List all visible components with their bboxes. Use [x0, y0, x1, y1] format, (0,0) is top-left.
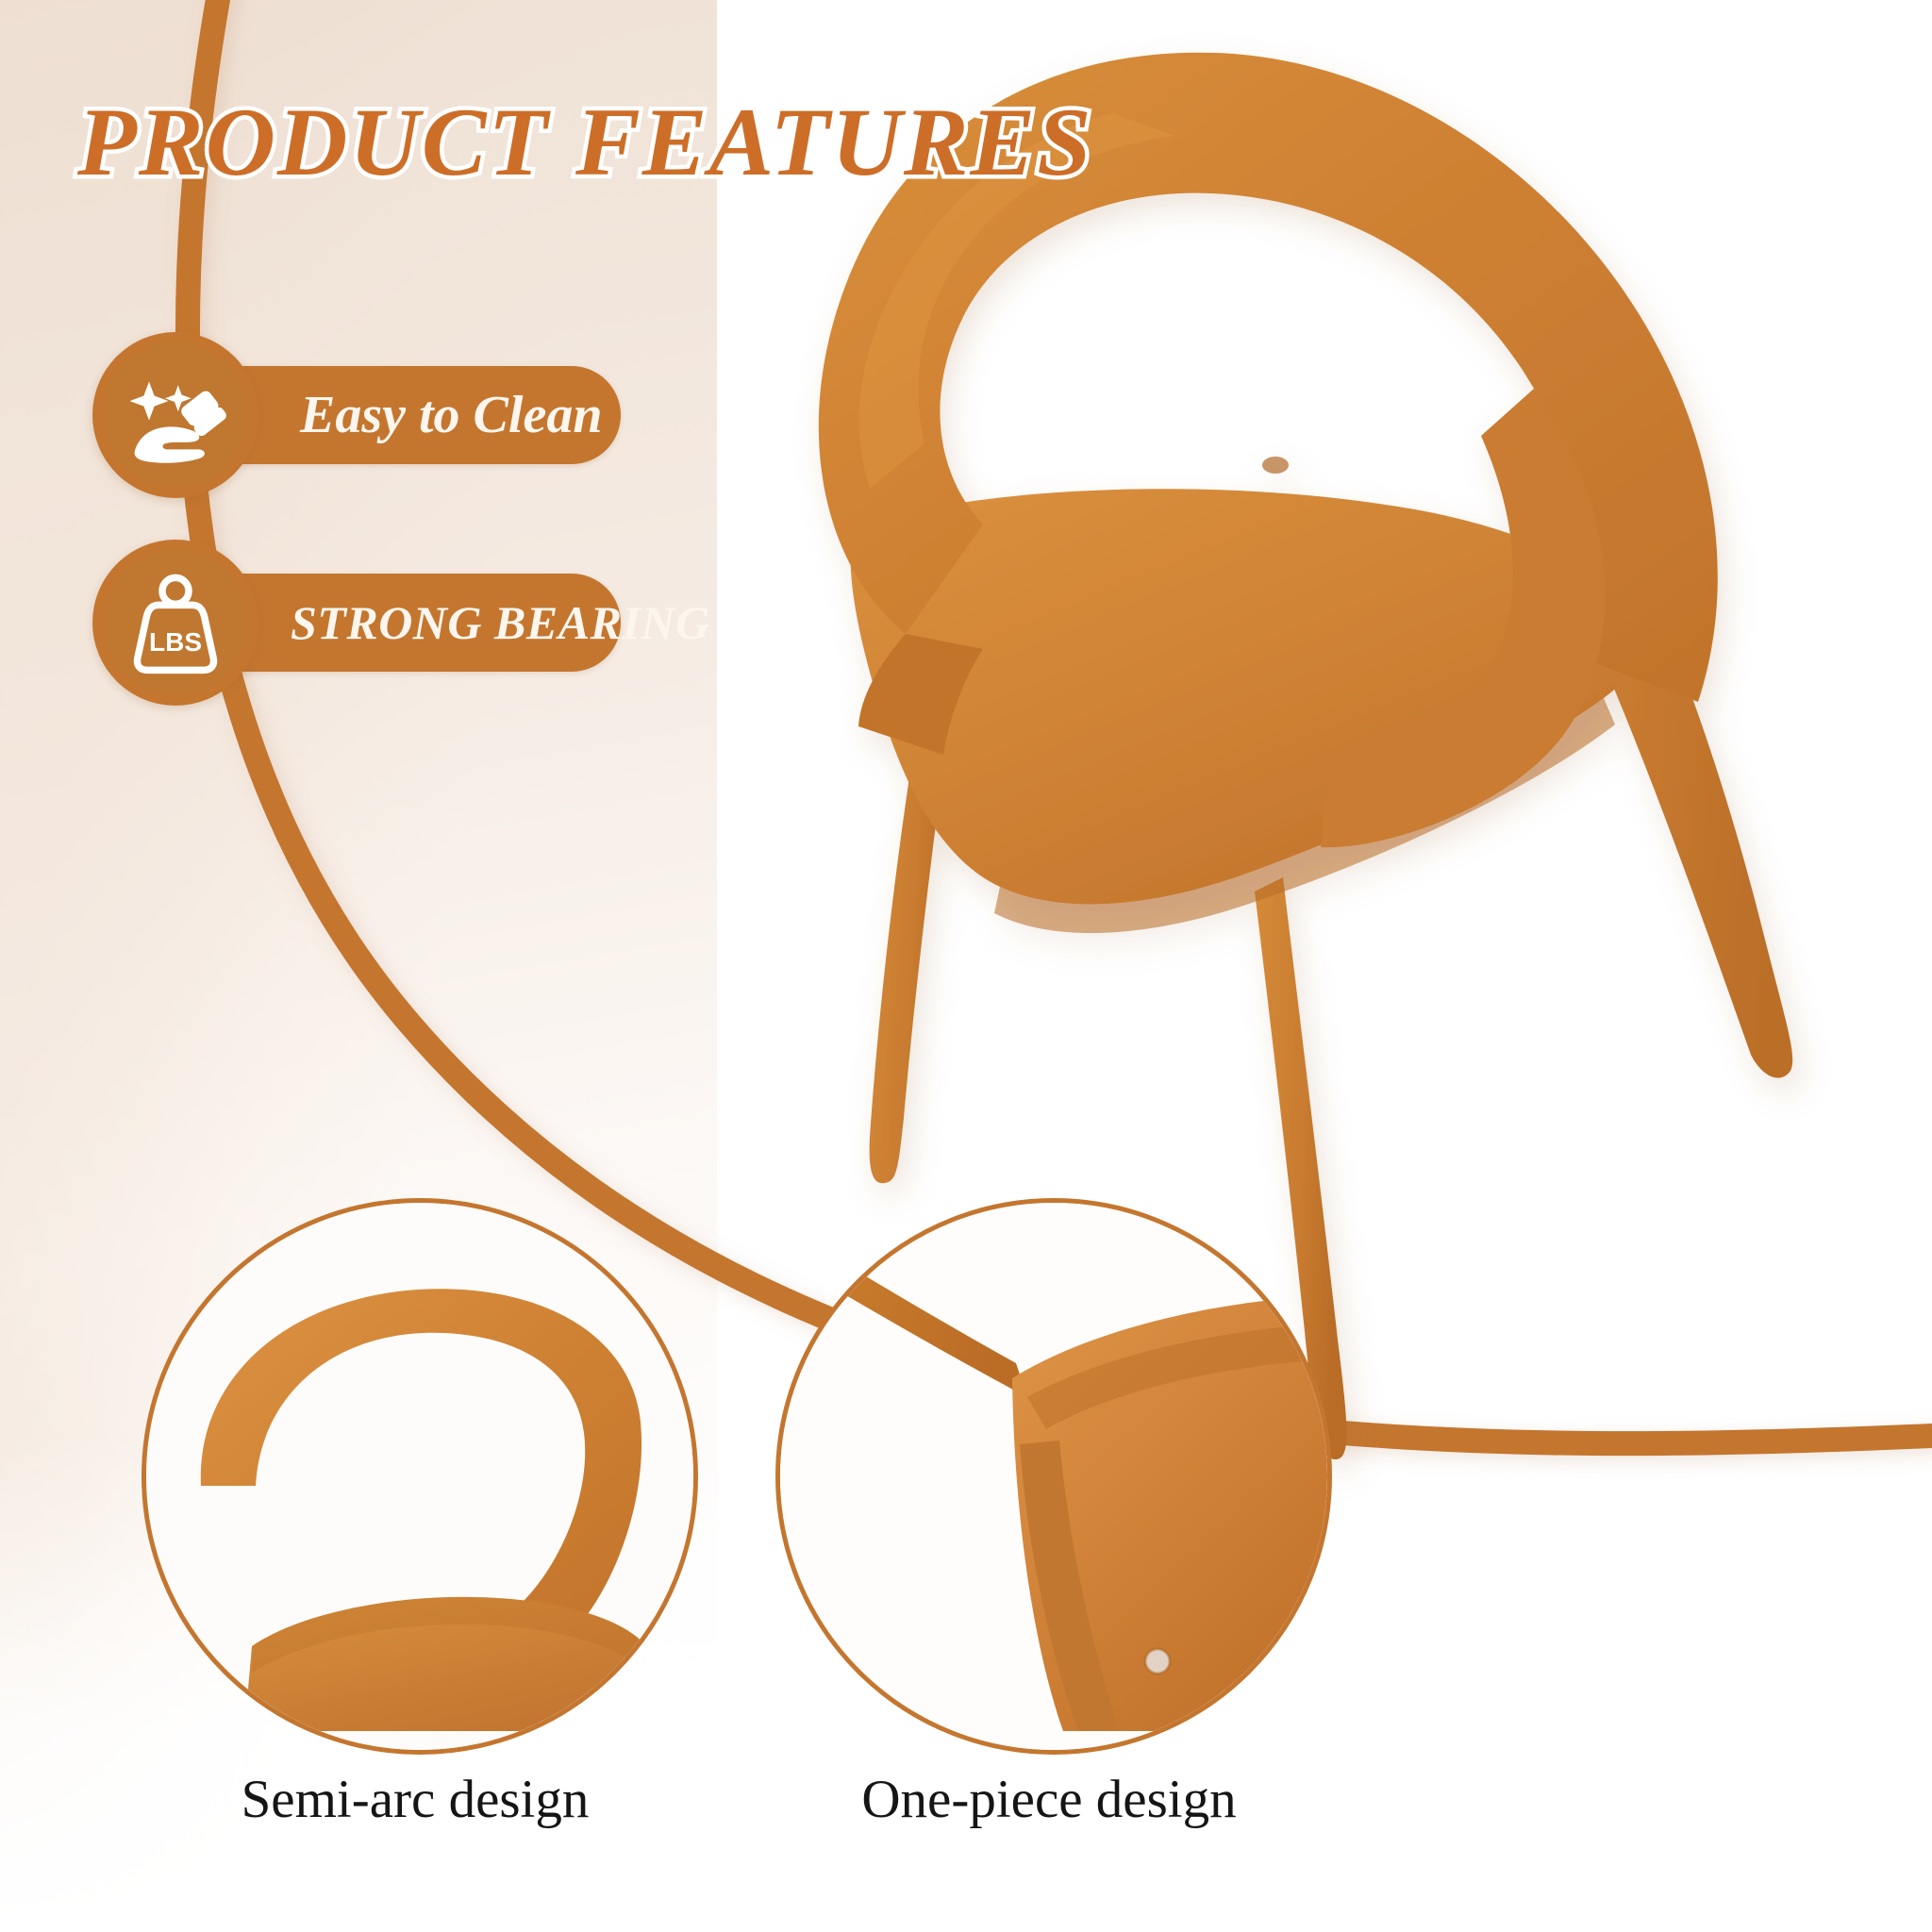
semi-arc-closeup-art — [146, 1203, 693, 1750]
feature-label: Easy to Clean — [300, 385, 602, 445]
detail-circle-one-piece — [775, 1198, 1332, 1755]
detail-caption-semi-arc: Semi-arc design — [142, 1769, 689, 1830]
sparkle-hand-cleaning-icon — [123, 362, 228, 468]
lbs-icon-text: LBS — [149, 627, 202, 657]
feature-badge-strong-bearing: LBS — [92, 540, 258, 706]
feature-item-strong-bearing[interactable]: STRONG BEARING LBS — [92, 540, 621, 706]
feature-label: STRONG BEARING — [291, 595, 710, 650]
feature-item-easy-to-clean[interactable]: Easy to Clean — [92, 332, 621, 498]
lbs-weight-icon: LBS — [125, 570, 226, 675]
one-piece-closeup-art — [780, 1203, 1327, 1750]
infographic-canvas: PRODUCT FEATURES Easy to Clean — [0, 0, 1932, 1932]
feature-badge-easy-to-clean — [92, 332, 258, 498]
page-title: PRODUCT FEATURES — [77, 87, 1093, 198]
detail-circle-semi-arc — [142, 1198, 698, 1755]
detail-caption-one-piece: One-piece design — [775, 1769, 1323, 1830]
